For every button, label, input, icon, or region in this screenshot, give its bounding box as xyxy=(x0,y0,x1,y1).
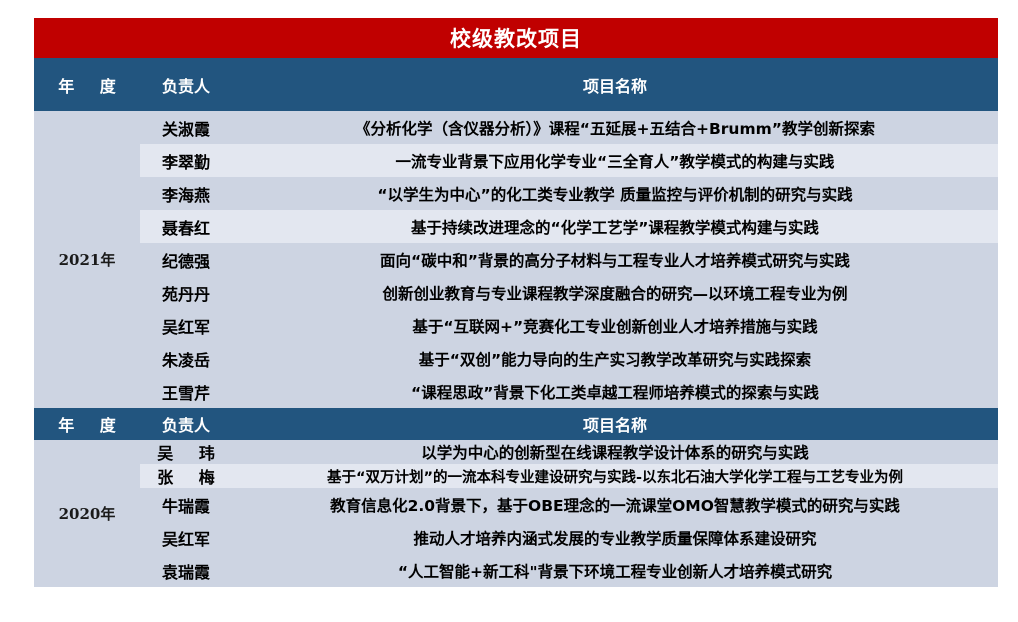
table-row: 吴红军 基于“互联网+”竞赛化工专业创新创业人才培养措施与实践 xyxy=(34,309,998,342)
leader-cell: 吴红军 xyxy=(140,521,232,554)
table-body: 校级教改项目 年 度 负责人 项目名称 2021年 关淑霞 《分析化学（含仪器分… xyxy=(34,18,998,587)
page-title: 校级教改项目 xyxy=(34,18,998,58)
project-table: 校级教改项目 年 度 负责人 项目名称 2021年 关淑霞 《分析化学（含仪器分… xyxy=(34,18,998,587)
header-row-2020: 年 度 负责人 项目名称 xyxy=(34,408,998,440)
table-row: 王雪芹 “课程思政”背景下化工类卓越工程师培养模式的探索与实践 xyxy=(34,375,998,408)
leader-cell: 朱凌岳 xyxy=(140,342,232,375)
year-cell-2021: 2021年 xyxy=(34,111,140,408)
leader-cell: 关淑霞 xyxy=(140,111,232,144)
table-row: 聂春红 基于持续改进理念的“化学工艺学”课程教学模式构建与实践 xyxy=(34,210,998,243)
leader-label: 张 梅 xyxy=(147,468,225,487)
project-cell: 《分析化学（含仪器分析）》课程“五延展+五结合+Brumm”教学创新探索 xyxy=(232,111,998,144)
project-cell: 教育信息化2.0背景下，基于OBE理念的一流课堂OMO智慧教学模式的研究与实践 xyxy=(232,488,998,521)
project-cell: 基于“双创”能力导向的生产实习教学改革研究与实践探索 xyxy=(232,342,998,375)
column-header-project: 项目名称 xyxy=(232,58,998,111)
title-row: 校级教改项目 xyxy=(34,18,998,58)
table-row: 吴红军 推动人才培养内涵式发展的专业教学质量保障体系建设研究 xyxy=(34,521,998,554)
project-cell: 推动人才培养内涵式发展的专业教学质量保障体系建设研究 xyxy=(232,521,998,554)
table-row: 纪德强 面向“碳中和”背景的高分子材料与工程专业人才培养模式研究与实践 xyxy=(34,243,998,276)
table-row: 牛瑞霞 教育信息化2.0背景下，基于OBE理念的一流课堂OMO智慧教学模式的研究… xyxy=(34,488,998,521)
table-row: 袁瑞霞 “人工智能+新工科"背景下环境工程专业创新人才培养模式研究 xyxy=(34,554,998,587)
leader-cell: 袁瑞霞 xyxy=(140,554,232,587)
leader-cell: 牛瑞霞 xyxy=(140,488,232,521)
table-row: 朱凌岳 基于“双创”能力导向的生产实习教学改革研究与实践探索 xyxy=(34,342,998,375)
leader-label: 吴 玮 xyxy=(147,444,225,463)
table-row: 张 梅 基于“双万计划”的一流本科专业建设研究与实践-以东北石油大学化学工程与工… xyxy=(34,464,998,488)
leader-cell: 李海燕 xyxy=(140,177,232,210)
leader-cell: 李翠勤 xyxy=(140,144,232,177)
leader-cell: 张 梅 xyxy=(140,464,232,488)
column-header-leader: 负责人 xyxy=(140,58,232,111)
column-header-year: 年 度 xyxy=(34,58,140,111)
column-header-leader-2: 负责人 xyxy=(140,408,232,440)
project-cell: 基于持续改进理念的“化学工艺学”课程教学模式构建与实践 xyxy=(232,210,998,243)
leader-cell: 聂春红 xyxy=(140,210,232,243)
leader-cell: 苑丹丹 xyxy=(140,276,232,309)
leader-cell: 王雪芹 xyxy=(140,375,232,408)
project-table-container: 校级教改项目 年 度 负责人 项目名称 2021年 关淑霞 《分析化学（含仪器分… xyxy=(34,18,998,587)
table-row: 李翠勤 一流专业背景下应用化学专业“三全育人”教学模式的构建与实践 xyxy=(34,144,998,177)
project-cell: “课程思政”背景下化工类卓越工程师培养模式的探索与实践 xyxy=(232,375,998,408)
page-root: 校级教改项目 年 度 负责人 项目名称 2021年 关淑霞 《分析化学（含仪器分… xyxy=(0,0,1018,622)
project-cell: 创新创业教育与专业课程教学深度融合的研究—以环境工程专业为例 xyxy=(232,276,998,309)
leader-cell: 吴 玮 xyxy=(140,440,232,464)
project-cell: 面向“碳中和”背景的高分子材料与工程专业人才培养模式研究与实践 xyxy=(232,243,998,276)
column-header-project-2: 项目名称 xyxy=(232,408,998,440)
project-cell: 以学为中心的创新型在线课程教学设计体系的研究与实践 xyxy=(232,440,998,464)
year-cell-2020: 2020年 xyxy=(34,440,140,587)
table-row: 苑丹丹 创新创业教育与专业课程教学深度融合的研究—以环境工程专业为例 xyxy=(34,276,998,309)
table-row: 2020年 吴 玮 以学为中心的创新型在线课程教学设计体系的研究与实践 xyxy=(34,440,998,464)
header-row-2021: 年 度 负责人 项目名称 xyxy=(34,58,998,111)
project-cell: 基于“双万计划”的一流本科专业建设研究与实践-以东北石油大学化学工程与工艺专业为… xyxy=(232,464,998,488)
project-cell: 基于“互联网+”竞赛化工专业创新创业人才培养措施与实践 xyxy=(232,309,998,342)
project-cell: “人工智能+新工科"背景下环境工程专业创新人才培养模式研究 xyxy=(232,554,998,587)
project-cell: “以学生为中心”的化工类专业教学 质量监控与评价机制的研究与实践 xyxy=(232,177,998,210)
leader-cell: 纪德强 xyxy=(140,243,232,276)
table-row: 2021年 关淑霞 《分析化学（含仪器分析）》课程“五延展+五结合+Brumm”… xyxy=(34,111,998,144)
table-row: 李海燕 “以学生为中心”的化工类专业教学 质量监控与评价机制的研究与实践 xyxy=(34,177,998,210)
leader-cell: 吴红军 xyxy=(140,309,232,342)
project-cell: 一流专业背景下应用化学专业“三全育人”教学模式的构建与实践 xyxy=(232,144,998,177)
column-header-year-2: 年 度 xyxy=(34,408,140,440)
